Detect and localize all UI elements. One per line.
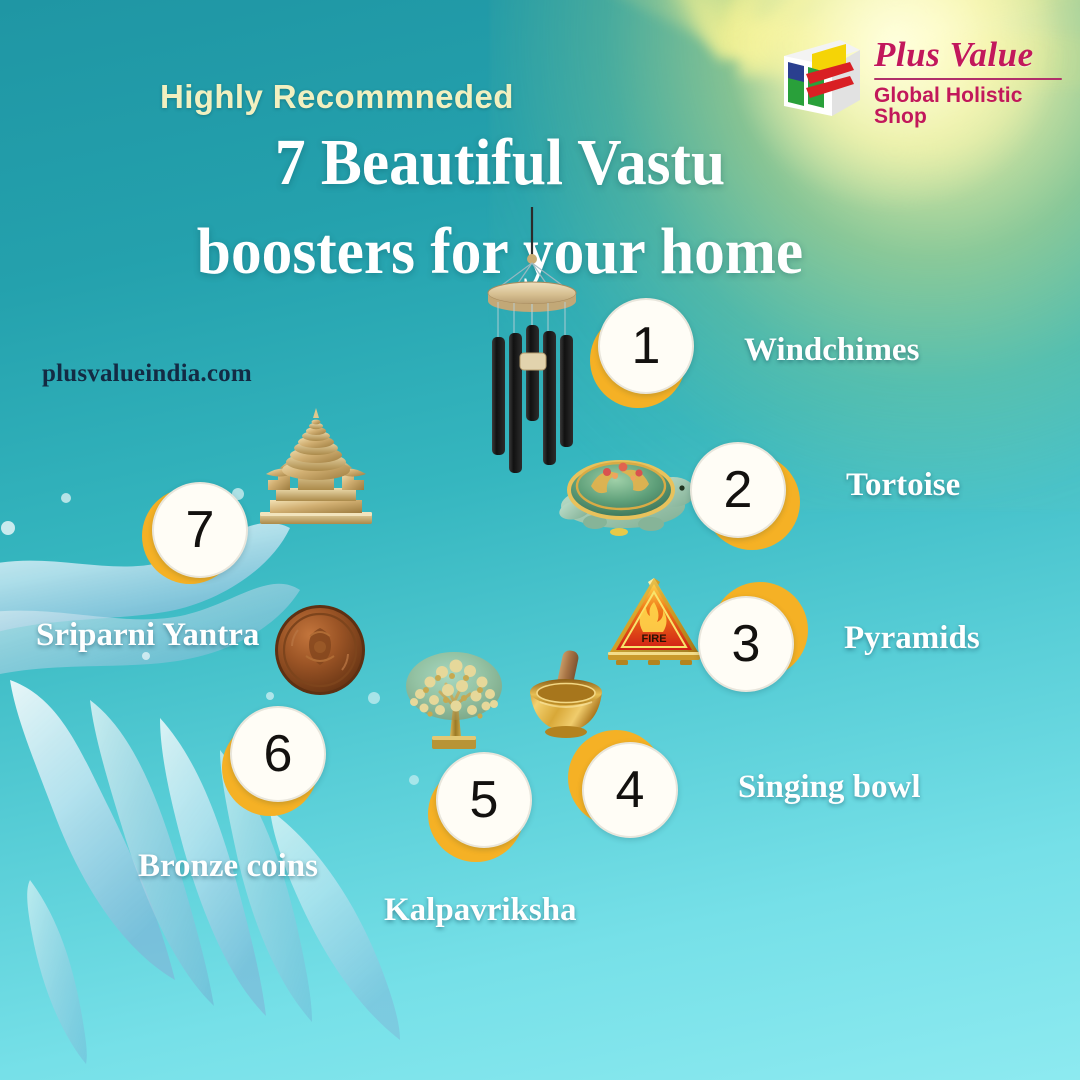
sun-ray [483, 0, 757, 61]
badge-5[interactable]: 5 [428, 748, 532, 852]
badge-1[interactable]: 1 [590, 294, 694, 398]
logo-divider [874, 78, 1062, 80]
logo-wordmark: Plus Value Global Holistic Shop [874, 33, 1062, 127]
logo-cube-icon [774, 34, 866, 126]
brand-name: Plus Value [874, 37, 1062, 72]
label-sriparni-yantra[interactable]: Sriparni Yantra [10, 605, 285, 668]
sun-ray [568, 0, 764, 59]
infographic-canvas: Highly Recommneded 7 Beautiful Vastu boo… [0, 0, 1080, 1080]
label-tortoise[interactable]: Tortoise [820, 455, 986, 518]
label-text: Windchimes [744, 332, 919, 368]
badge-3[interactable]: 3 [690, 592, 794, 696]
label-singing-bowl[interactable]: Singing bowl [712, 757, 947, 820]
title-line-1: 7 Beautiful Vastu [147, 118, 854, 207]
label-pyramids[interactable]: Pyramids [818, 608, 1006, 671]
sun-ray [411, 0, 749, 60]
label-text: Singing bowl [738, 769, 921, 805]
badge-number: 3 [698, 596, 794, 692]
label-text: Sriparni Yantra [36, 617, 259, 653]
brand-logo[interactable]: Plus Value Global Holistic Shop [774, 26, 1062, 134]
tortoise-image [545, 440, 705, 540]
badge-number: 5 [436, 752, 532, 848]
label-text: Bronze coins [138, 848, 318, 884]
sri-yantra-image [246, 404, 386, 534]
sun-ray [687, 0, 748, 51]
badge-4[interactable]: 4 [574, 738, 678, 842]
bronze-coin-image [272, 602, 368, 698]
sun-ray [357, 0, 744, 57]
label-text: Kalpavriksha [384, 892, 577, 928]
badge-number: 2 [690, 442, 786, 538]
badge-2[interactable]: 2 [682, 438, 786, 542]
label-kalpavriksha[interactable]: Kalpavriksha [358, 880, 603, 943]
badge-7[interactable]: 7 [144, 478, 248, 582]
badge-number: 6 [230, 706, 326, 802]
label-bronze-coins[interactable]: Bronze coins [112, 836, 344, 899]
label-text: Tortoise [846, 467, 960, 503]
badge-number: 4 [582, 742, 678, 838]
label-windchimes[interactable]: Windchimes [718, 320, 945, 383]
kicker-text: Highly Recommneded [160, 78, 514, 116]
label-text: Pyramids [844, 620, 980, 656]
website-url: plusvalueindia.com [42, 360, 252, 388]
badge-6[interactable]: 6 [222, 702, 326, 806]
badge-number: 1 [598, 298, 694, 394]
badge-number: 7 [152, 482, 248, 578]
pyramid-face-text: FIRE [641, 633, 666, 645]
brand-tagline: Global Holistic Shop [874, 85, 1062, 127]
wishing-tree-image [394, 644, 514, 756]
